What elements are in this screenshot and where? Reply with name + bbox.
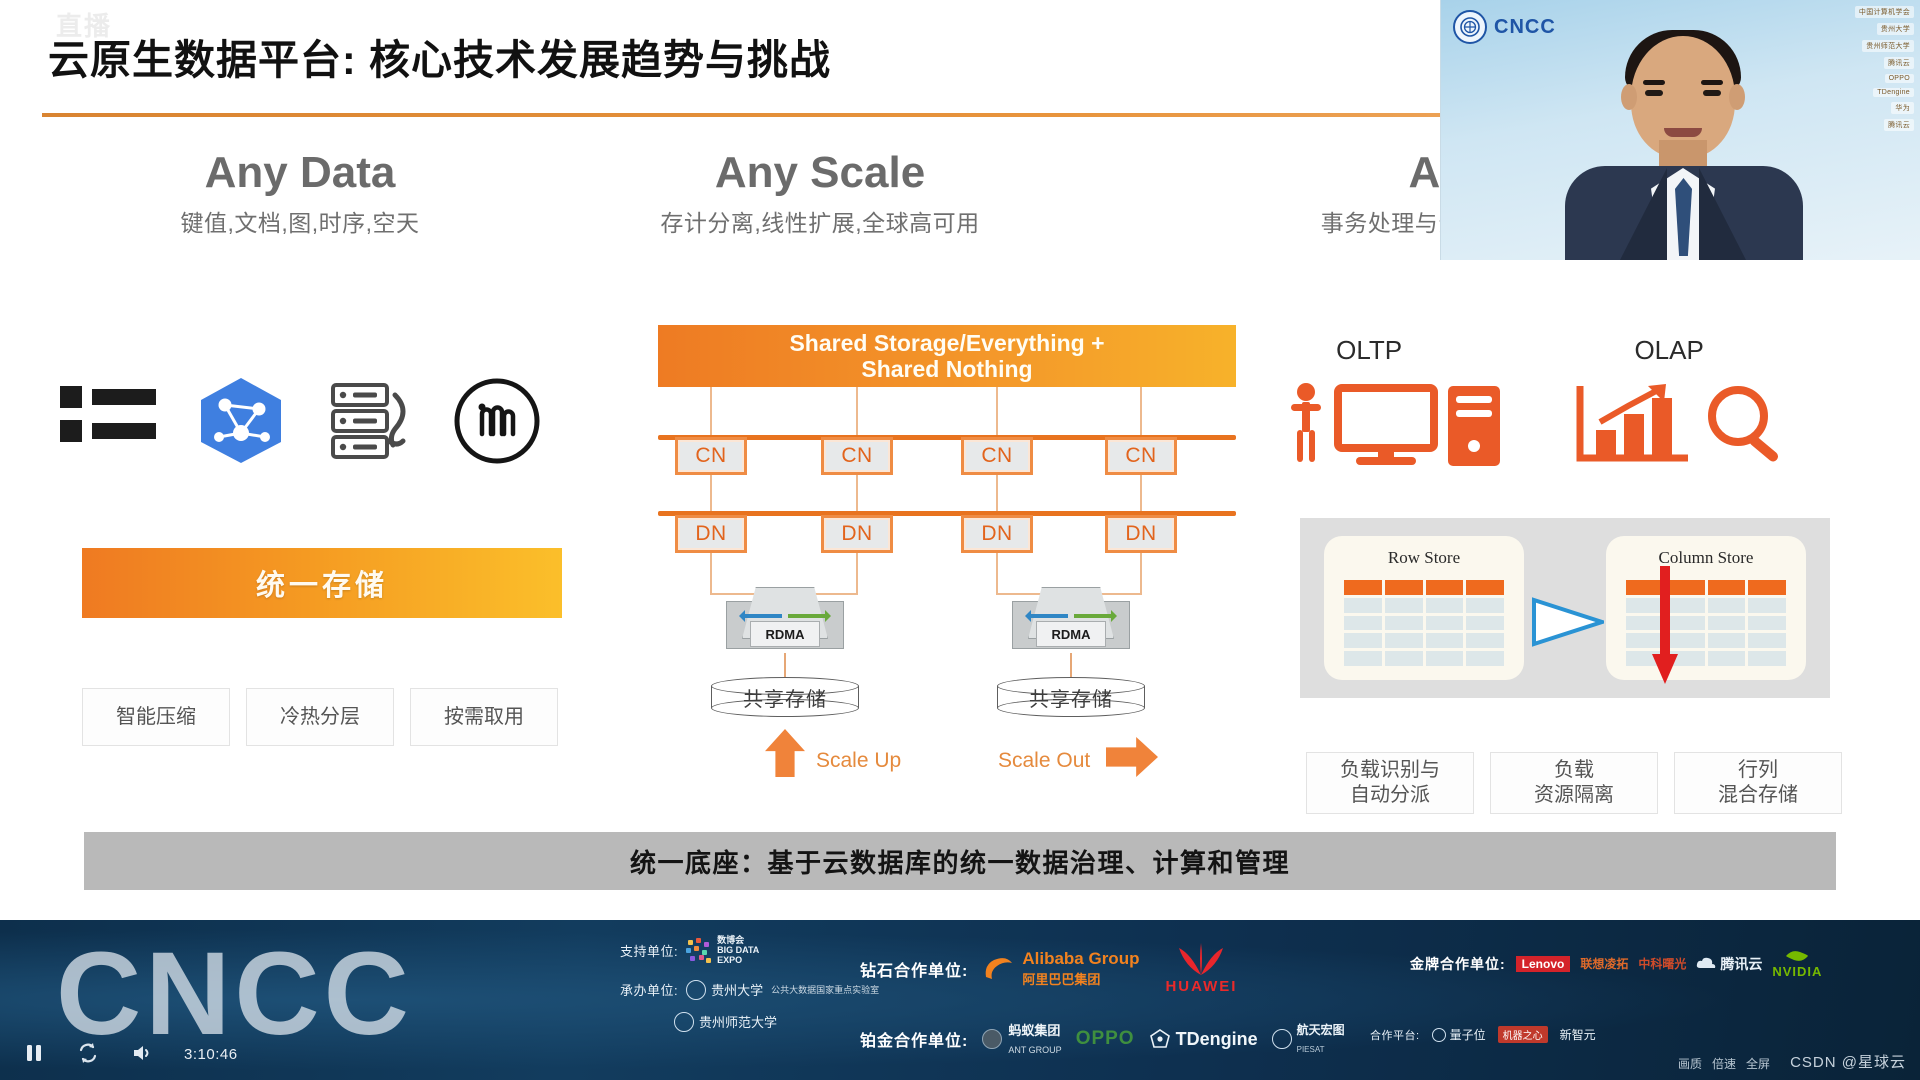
tag-line-2: 混合存储 (1718, 783, 1798, 808)
compute-node: CN (961, 437, 1033, 475)
scale-up-arrow-icon (765, 729, 805, 777)
pip-sponsor-chip: TDengine (1873, 88, 1914, 97)
university-seal-icon (686, 980, 706, 1000)
tencent-cloud-logo: 腾讯云 (1696, 954, 1762, 974)
nvidia-name: NVIDIA (1772, 964, 1822, 979)
tag-item[interactable]: 冷热分层 (246, 688, 394, 746)
unified-storage-banner: 统一存储 (82, 548, 562, 618)
tag-line-1: 负载 (1554, 758, 1594, 783)
oltp-icon-group (1290, 380, 1510, 460)
fullscreen-option[interactable]: 全屏 (1746, 1055, 1770, 1072)
compute-node: CN (1105, 437, 1177, 475)
any-workload-tag-row: 负载识别与 自动分派 负载 资源隔离 行列 混合存储 (1306, 752, 1842, 814)
data-node: DN (675, 515, 747, 553)
workload-olap-label: OLAP (1634, 335, 1703, 366)
rdma-label: RDMA (750, 621, 820, 647)
pip-sponsor-chip: 腾讯云 (1884, 119, 1914, 131)
scale-up-label: Scale Up (816, 749, 901, 773)
organizer-label: 承办单位: (620, 980, 678, 999)
scale-out-label: Scale Out (998, 749, 1090, 773)
tag-item[interactable]: 按需取用 (410, 688, 558, 746)
huawei-logo: HUAWEI (1165, 942, 1237, 995)
sugon-logo: 中科曙光 (1638, 955, 1686, 972)
tencent-name: 腾讯云 (1720, 954, 1762, 974)
list-icon (60, 384, 156, 456)
cncc-logo-text: CNCC (1494, 16, 1556, 39)
banner-line-1: Shared Storage/Everything + (789, 330, 1104, 356)
speaker-portrait (1559, 28, 1809, 260)
column-title: Any Scale (560, 150, 1080, 196)
server-stack-icon (327, 377, 413, 463)
any-data-tag-row: 智能压缩 冷热分层 按需取用 (82, 688, 558, 746)
speaker-video-overlay[interactable]: CNCC 中国计算机学会 贵州大学 贵州师范大学 腾讯云 OPPO TDengi… (1440, 0, 1920, 260)
support-label: 支持单位: (620, 941, 678, 960)
video-player: 直播 云原生数据平台: 核心技术发展趋势与挑战 Any Data 键值,文档,图… (0, 0, 1920, 1080)
tag-item[interactable]: 负载 资源隔离 (1490, 752, 1658, 814)
column-any-data: Any Data 键值,文档,图,时序,空天 (40, 150, 560, 238)
row-store-label: Row Store (1324, 548, 1524, 568)
organizer-name: 贵州大学 (711, 980, 763, 999)
playback-time: 3:10:46 (184, 1046, 238, 1063)
bigdata-expo-logo: 数博会 BIG DATA EXPO (686, 936, 759, 966)
csdn-watermark: CSDN @星球云 (1790, 1051, 1906, 1072)
tag-item[interactable]: 行列 混合存储 (1674, 752, 1842, 814)
shared-storage-label: 共享存储 (997, 683, 1145, 711)
gold-partner-block: 金牌合作单位: Lenovo 联想凌拓 中科曙光 腾讯云 NVIDIA (1410, 948, 1822, 979)
lenovo-netapp-logo: 联想凌拓 (1580, 955, 1628, 972)
unified-base-bar: 统一底座：基于云数据库的统一数据治理、计算和管理 (84, 832, 1836, 890)
bd-line-2: BIG DATA (717, 945, 759, 955)
pip-sponsor-chip: 中国计算机学会 (1855, 6, 1914, 18)
column-store-label: Column Store (1606, 548, 1806, 568)
huawei-name: HUAWEI (1165, 978, 1237, 995)
scale-out-arrow-icon (1106, 737, 1158, 777)
diamond-label: 钻石合作单位: (860, 957, 968, 981)
pause-icon[interactable] (22, 1041, 48, 1067)
rdma-switch: RDMA (1012, 587, 1130, 653)
column-title: Any Data (40, 150, 560, 196)
player-controls: 3:10:46 画质 倍速 全屏 CSDN @星球云 (0, 1028, 1920, 1080)
alibaba-name-cn: 阿里巴巴集团 (1022, 972, 1100, 987)
pip-sponsor-chip: OPPO (1885, 74, 1914, 83)
volume-icon[interactable] (130, 1041, 156, 1067)
alibaba-logo: Alibaba Group 阿里巴巴集团 (982, 949, 1139, 989)
shared-architecture-banner: Shared Storage/Everything + Shared Nothi… (658, 325, 1236, 387)
nvidia-logo: NVIDIA (1772, 948, 1822, 979)
compute-node: CN (675, 437, 747, 475)
alibaba-mark-icon (982, 955, 1016, 983)
column-store-grid (1626, 580, 1786, 666)
row-store-grid (1344, 580, 1504, 666)
shared-storage-label: 共享存储 (711, 683, 859, 711)
player-right-options: 画质 倍速 全屏 (1678, 1055, 1770, 1072)
graph-network-icon (195, 375, 287, 465)
loop-icon[interactable] (76, 1041, 102, 1067)
huawei-petal-icon (1175, 942, 1227, 976)
page-title: 云原生数据平台: 核心技术发展趋势与挑战 (48, 26, 831, 86)
pip-sponsor-chip: 华为 (1891, 102, 1914, 114)
tag-line-1: 行列 (1738, 758, 1778, 783)
shared-storage: 共享存储 (711, 677, 859, 729)
olap-icon-group (1570, 380, 1800, 460)
gold-label: 金牌合作单位: (1410, 954, 1506, 974)
pip-sponsor-chip: 贵州师范大学 (1862, 40, 1914, 52)
data-node: DN (1105, 515, 1177, 553)
data-node: DN (821, 515, 893, 553)
arrow-down-icon (1652, 566, 1678, 686)
organizer-logo-guizhou-univ: 贵州大学 (686, 980, 763, 1000)
tag-item[interactable]: 智能压缩 (82, 688, 230, 746)
ccf-seal-icon (1453, 10, 1487, 44)
any-data-icon-row (40, 375, 560, 465)
row-store-card: Row Store (1324, 536, 1524, 680)
pip-sponsor-chip: 贵州大学 (1877, 23, 1914, 35)
tencent-cloud-icon (1696, 955, 1716, 973)
tag-line-2: 自动分派 (1350, 783, 1430, 808)
pip-sponsor-strip: 中国计算机学会 贵州大学 贵州师范大学 腾讯云 OPPO TDengine 华为… (1794, 6, 1914, 131)
quality-option[interactable]: 画质 (1678, 1055, 1702, 1072)
tag-item[interactable]: 负载识别与 自动分派 (1306, 752, 1474, 814)
bd-line-3: EXPO (717, 955, 742, 965)
shared-storage: 共享存储 (997, 677, 1145, 729)
pip-sponsor-chip: 腾讯云 (1884, 57, 1914, 69)
column-subtitle: 键值,文档,图,时序,空天 (40, 204, 560, 238)
diamond-partner-block: 钻石合作单位: Alibaba Group 阿里巴巴集团 HUAWEI (860, 942, 1237, 995)
alibaba-name: Alibaba Group (1022, 949, 1139, 968)
column-store-card: Column Store (1606, 536, 1806, 680)
rdma-switch: RDMA (726, 587, 844, 653)
banner-line-2: Shared Nothing (861, 356, 1032, 382)
support-block: 支持单位: 数博会 BIG DAT (620, 936, 879, 1032)
rdma-label: RDMA (1036, 621, 1106, 647)
lenovo-logo: Lenovo (1516, 956, 1571, 972)
arrow-right-icon (1532, 596, 1604, 648)
bigdata-dots-icon (686, 938, 712, 964)
bigdata-expo-text: 数博会 BIG DATA EXPO (717, 936, 759, 966)
nvidia-eye-icon (1784, 948, 1810, 964)
bd-line-1: 数博会 (717, 935, 744, 945)
row-column-store-panel: Row Store Column Store (1300, 518, 1830, 698)
speed-option[interactable]: 倍速 (1712, 1055, 1736, 1072)
workload-head-row: OLTP OLAP (1220, 335, 1820, 366)
tag-line-1: 负载识别与 (1340, 758, 1440, 783)
column-any-scale: Any Scale 存计分离,线性扩展,全球高可用 (560, 150, 1080, 238)
any-scale-diagram: Shared Storage/Everything + Shared Nothi… (640, 325, 1240, 795)
time-series-icon (452, 376, 540, 464)
tag-line-2: 资源隔离 (1534, 783, 1614, 808)
compute-node: CN (821, 437, 893, 475)
workload-oltp-label: OLTP (1336, 335, 1402, 366)
cncc-logo: CNCC (1453, 10, 1556, 44)
column-subtitle: 存计分离,线性扩展,全球高可用 (560, 204, 1080, 238)
data-node: DN (961, 515, 1033, 553)
